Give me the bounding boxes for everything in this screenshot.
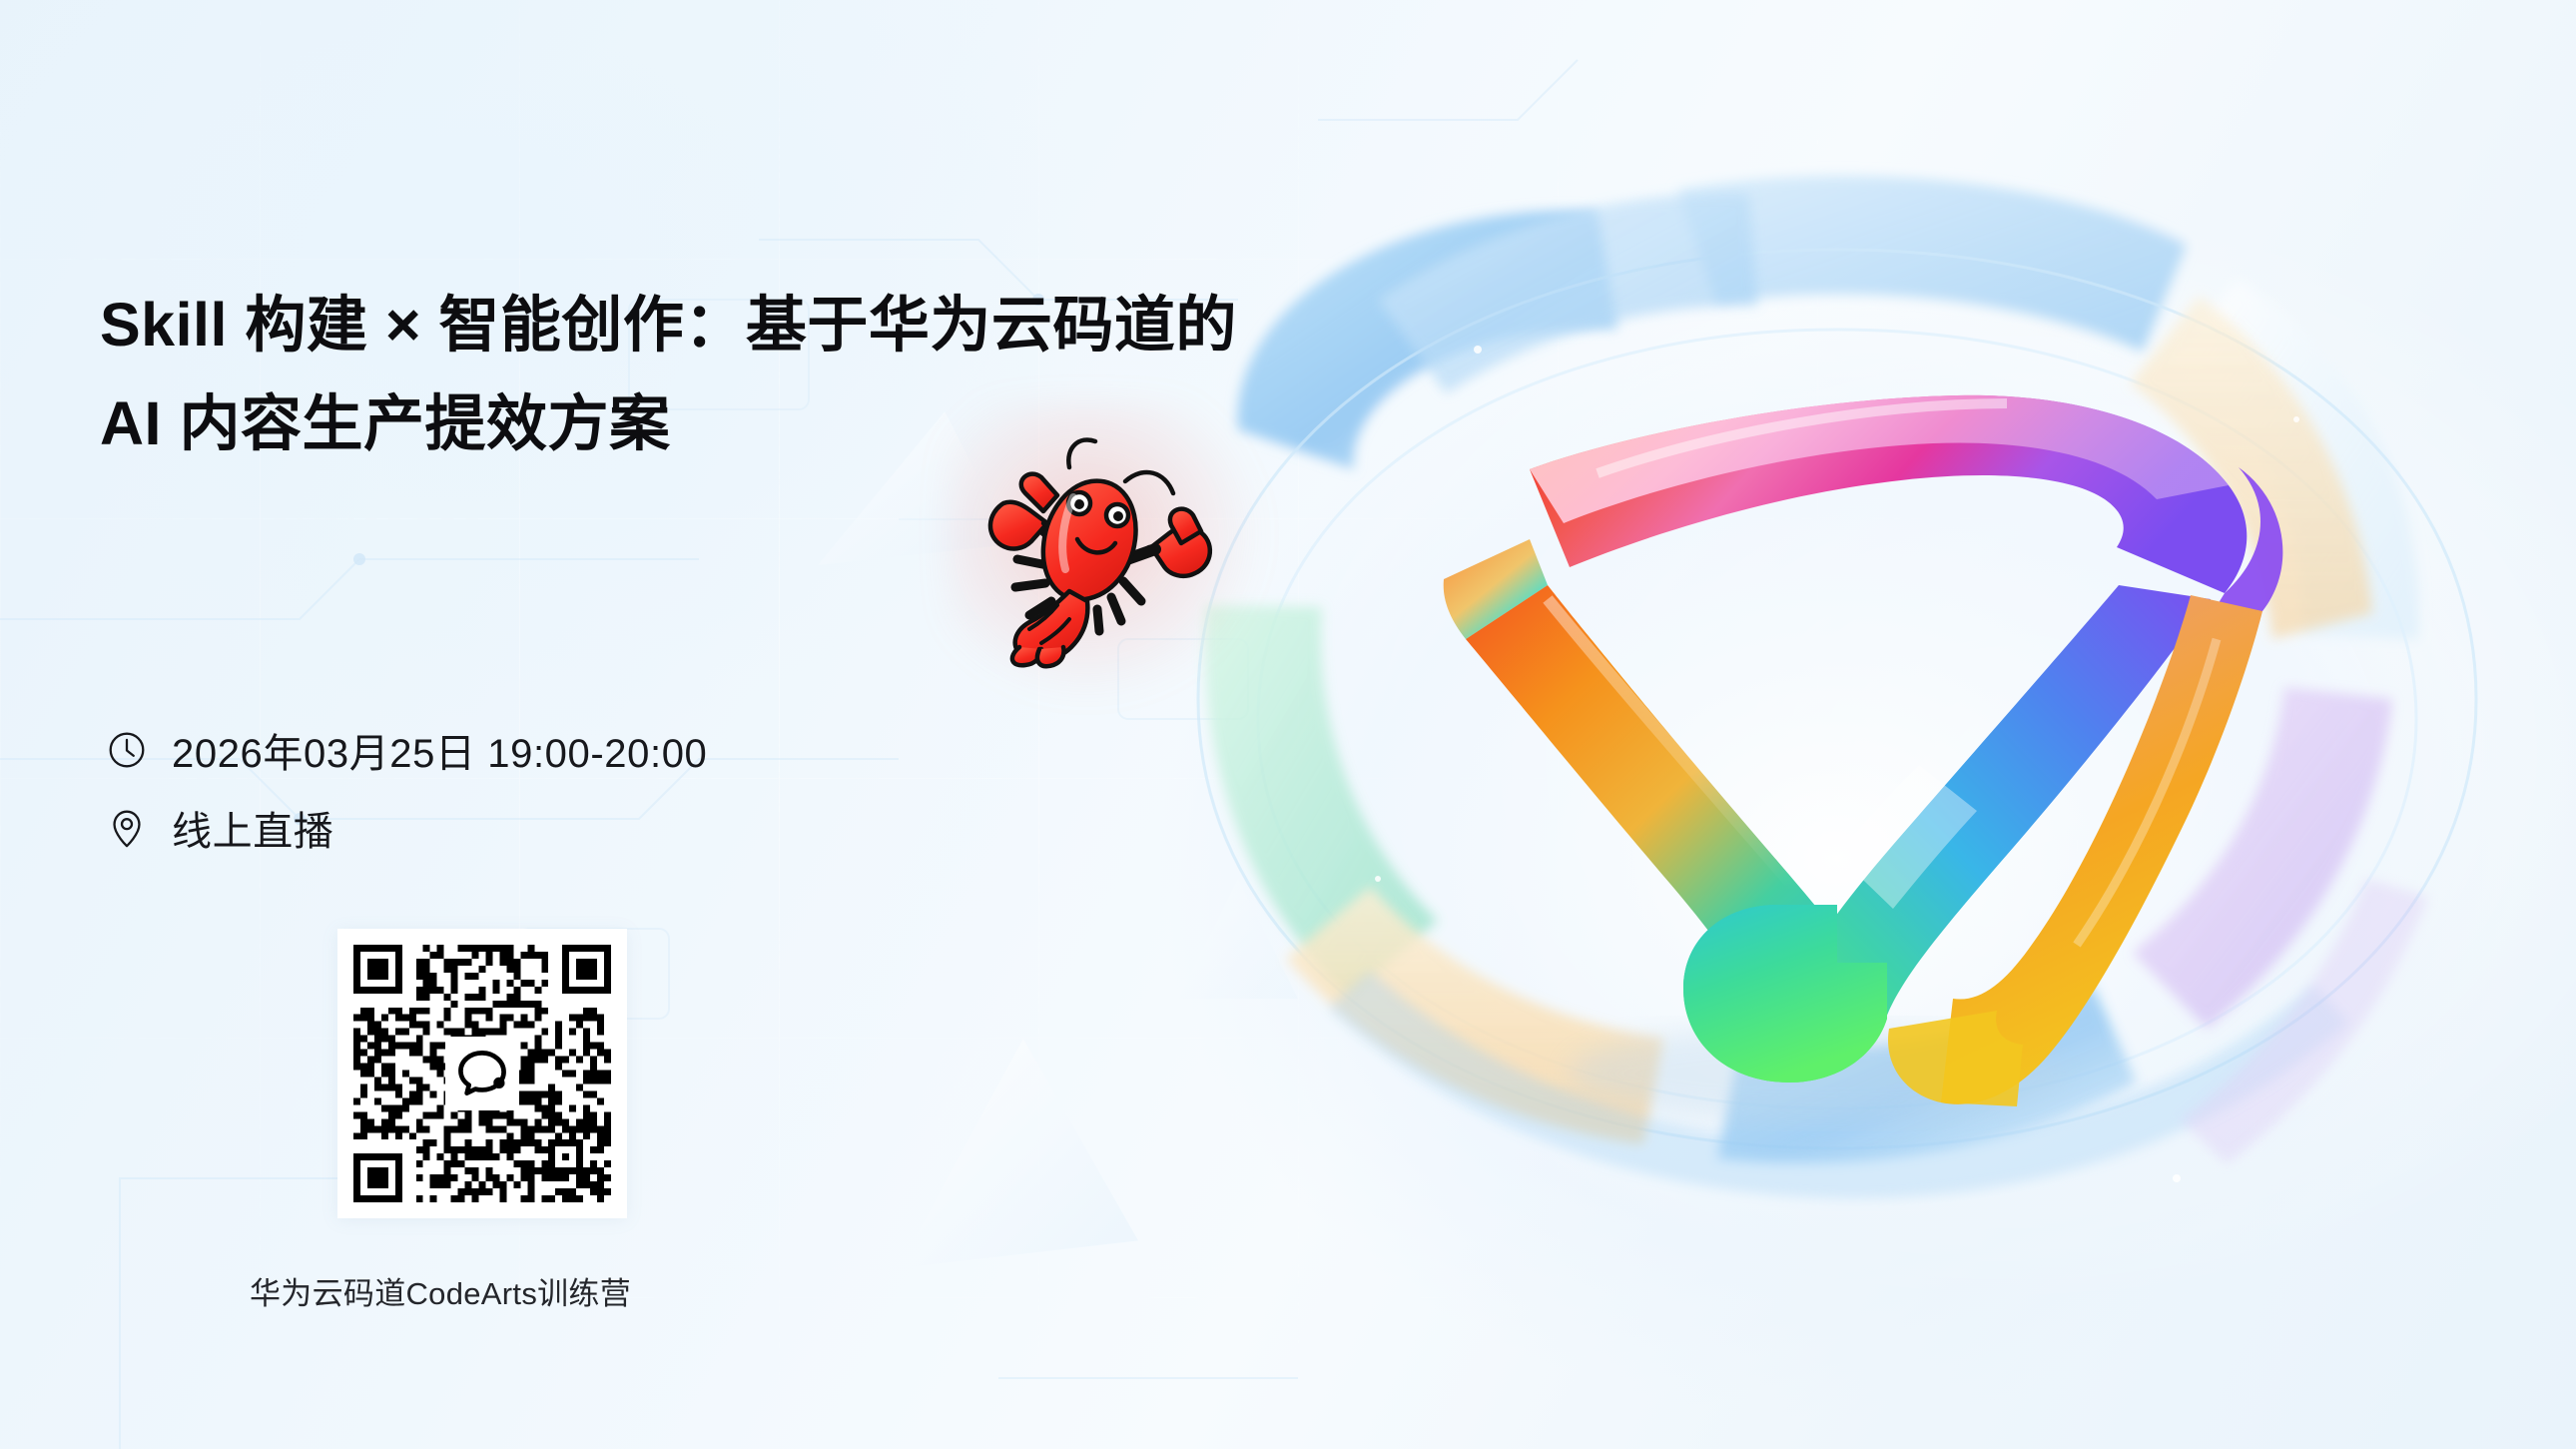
lobster-icon [973, 419, 1233, 669]
event-location-row: 线上直播 [104, 789, 707, 867]
codearts-ribbon-illustration [1078, 0, 2576, 1449]
chat-bubble-icon [445, 1037, 519, 1110]
qr-code-caption: 华为云码道CodeArts训练营 [250, 1268, 729, 1313]
qr-code-card[interactable] [337, 929, 627, 1218]
hero-artwork [1078, 0, 2576, 1449]
clock-icon [104, 727, 150, 773]
content-column: Skill 构建 × 智能创作：基于华为云码道的 AI 内容生产提效方案 202… [100, 0, 1278, 1449]
location-pin-icon [104, 805, 150, 851]
event-datetime-row: 2026年03月25日 19:00-20:00 [104, 711, 707, 789]
event-details: 2026年03月25日 19:00-20:00 线上直播 [104, 711, 707, 867]
lobster-sticker [973, 419, 1233, 669]
event-datetime-text: 2026年03月25日 19:00-20:00 [172, 721, 707, 779]
title-line-1: Skill 构建 × 智能创作：基于华为云码道的 [100, 276, 1238, 374]
qr-code-matrix [353, 945, 611, 1202]
event-location-text: 线上直播 [172, 799, 333, 857]
